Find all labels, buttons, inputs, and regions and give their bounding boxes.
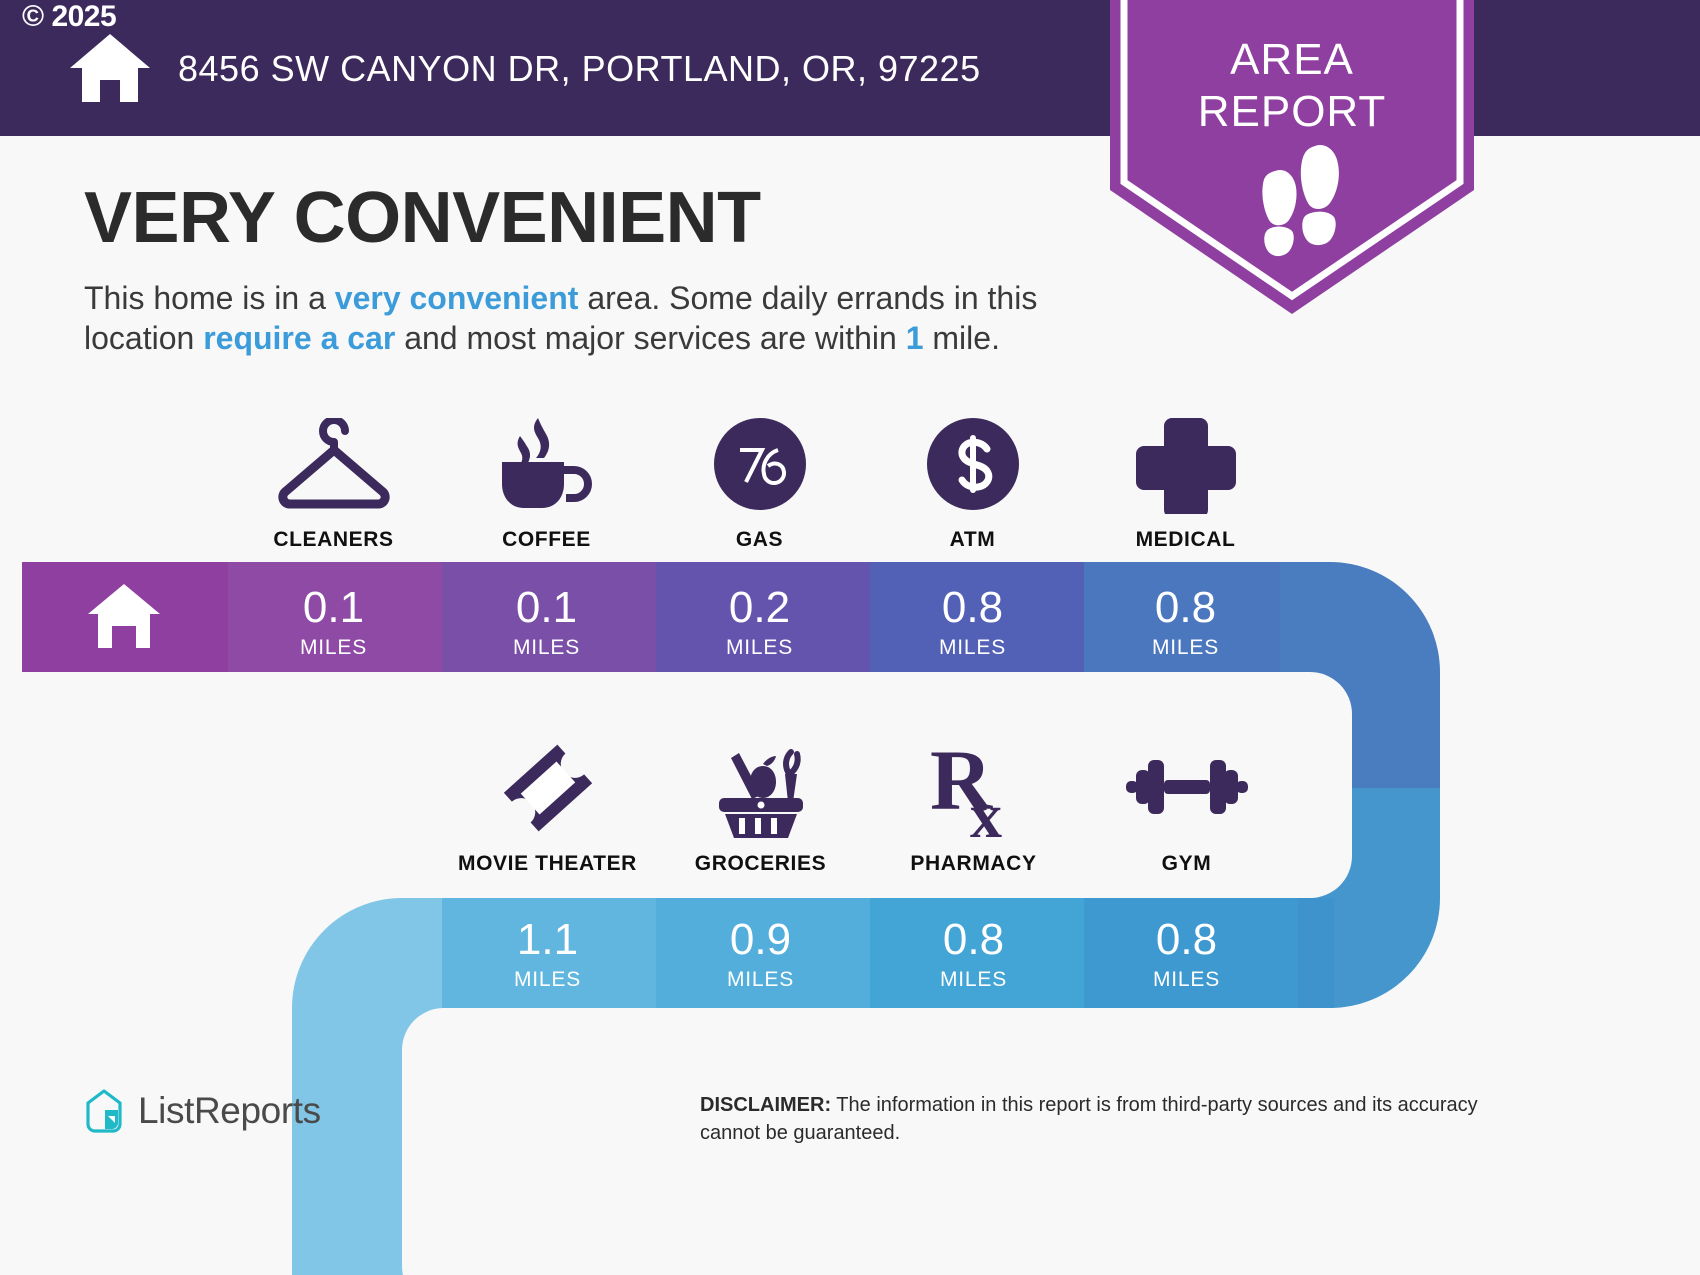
distance-unit: MILES — [726, 636, 793, 660]
badge-line-1: AREA — [1110, 34, 1474, 86]
grocery-basket-icon — [705, 736, 817, 840]
gas-76-icon — [712, 412, 808, 516]
distance-value: 0.8 — [1156, 918, 1217, 962]
distance-unit: MILES — [514, 968, 581, 992]
summary-highlight-1: very convenient — [335, 280, 579, 316]
category-label: PHARMACY — [910, 852, 1036, 876]
distance-value: 0.2 — [729, 586, 790, 630]
medical-cross-icon — [1136, 412, 1236, 516]
coffee-cup-icon — [492, 412, 602, 516]
distance-gym: 0.8 MILES — [1080, 900, 1293, 1010]
distance-value: 0.8 — [943, 918, 1004, 962]
distance-unit: MILES — [300, 636, 367, 660]
distance-unit: MILES — [513, 636, 580, 660]
distance-value: 0.1 — [516, 586, 577, 630]
distance-row-1: 0.1 MILES 0.1 MILES 0.2 MILES 0.8 MILES … — [227, 568, 1292, 678]
category-row-2: MOVIE THEATER — [441, 736, 1293, 876]
distance-value: 0.9 — [730, 918, 791, 962]
property-address: 8456 SW CANYON DR, PORTLAND, OR, 97225 — [178, 48, 981, 90]
distance-unit: MILES — [940, 968, 1007, 992]
rx-icon: R x — [926, 736, 1022, 840]
category-atm[interactable]: ATM — [866, 412, 1079, 552]
category-gym[interactable]: GYM — [1080, 736, 1293, 876]
dollar-circle-icon — [925, 412, 1021, 516]
category-label: GROCERIES — [695, 852, 826, 876]
distance-unit: MILES — [1152, 636, 1219, 660]
distance-value: 0.1 — [303, 586, 364, 630]
distance-medical: 0.8 MILES — [1079, 568, 1292, 678]
area-report-badge: AREA REPORT — [1110, 0, 1474, 314]
home-icon — [64, 32, 156, 104]
listreports-logo-text: ListReports — [138, 1090, 321, 1132]
disclaimer-label: DISCLAIMER: — [700, 1094, 831, 1116]
hanger-icon — [271, 412, 397, 516]
distance-coffee: 0.1 MILES — [440, 568, 653, 678]
summary-text: This home is in a very convenient area. … — [84, 278, 1094, 358]
distance-movie-theater: 1.1 MILES — [441, 900, 654, 1010]
category-cleaners[interactable]: CLEANERS — [227, 412, 440, 552]
listreports-house-tag-icon — [84, 1088, 124, 1134]
distance-unit: MILES — [1153, 968, 1220, 992]
copyright-text: © 2025 — [22, 2, 116, 32]
category-label: CLEANERS — [273, 528, 393, 552]
summary-highlight-3: 1 — [906, 320, 924, 356]
distance-value: 0.8 — [1155, 586, 1216, 630]
category-label: COFFEE — [502, 528, 591, 552]
category-label: GAS — [736, 528, 783, 552]
dumbbell-icon — [1124, 736, 1250, 840]
distance-groceries: 0.9 MILES — [654, 900, 867, 1010]
svg-text:x: x — [970, 780, 1002, 839]
category-coffee[interactable]: COFFEE — [440, 412, 653, 552]
distance-value: 0.8 — [942, 586, 1003, 630]
distance-value: 1.1 — [517, 918, 578, 962]
category-groceries[interactable]: GROCERIES — [654, 736, 867, 876]
summary-part-1: This home is in a — [84, 280, 335, 316]
badge-label: AREA REPORT — [1110, 34, 1474, 138]
distance-gas: 0.2 MILES — [653, 568, 866, 678]
summary-part-3: and most major services are within — [395, 320, 905, 356]
category-pharmacy[interactable]: R x PHARMACY — [867, 736, 1080, 876]
summary-highlight-2: require a car — [203, 320, 395, 356]
category-medical[interactable]: MEDICAL — [1079, 412, 1292, 552]
category-label: MOVIE THEATER — [458, 852, 637, 876]
distance-unit: MILES — [727, 968, 794, 992]
page-title: VERY CONVENIENT — [84, 182, 761, 254]
distance-pharmacy: 0.8 MILES — [867, 900, 1080, 1010]
badge-line-2: REPORT — [1110, 86, 1474, 138]
category-label: ATM — [950, 528, 996, 552]
category-movie-theater[interactable]: MOVIE THEATER — [441, 736, 654, 876]
disclaimer: DISCLAIMER: The information in this repo… — [700, 1091, 1500, 1147]
distance-row-2: 1.1 MILES 0.9 MILES 0.8 MILES 0.8 MILES — [441, 900, 1293, 1010]
listreports-logo[interactable]: ListReports — [84, 1088, 321, 1134]
category-label: GYM — [1162, 852, 1212, 876]
distance-unit: MILES — [939, 636, 1006, 660]
distance-cleaners: 0.1 MILES — [227, 568, 440, 678]
distance-atm: 0.8 MILES — [866, 568, 1079, 678]
summary-part-4: mile. — [924, 320, 1000, 356]
movie-ticket-icon — [496, 736, 600, 840]
category-label: MEDICAL — [1136, 528, 1236, 552]
category-row-1: CLEANERS COFFEE GAS — [227, 412, 1292, 552]
category-gas[interactable]: GAS — [653, 412, 866, 552]
